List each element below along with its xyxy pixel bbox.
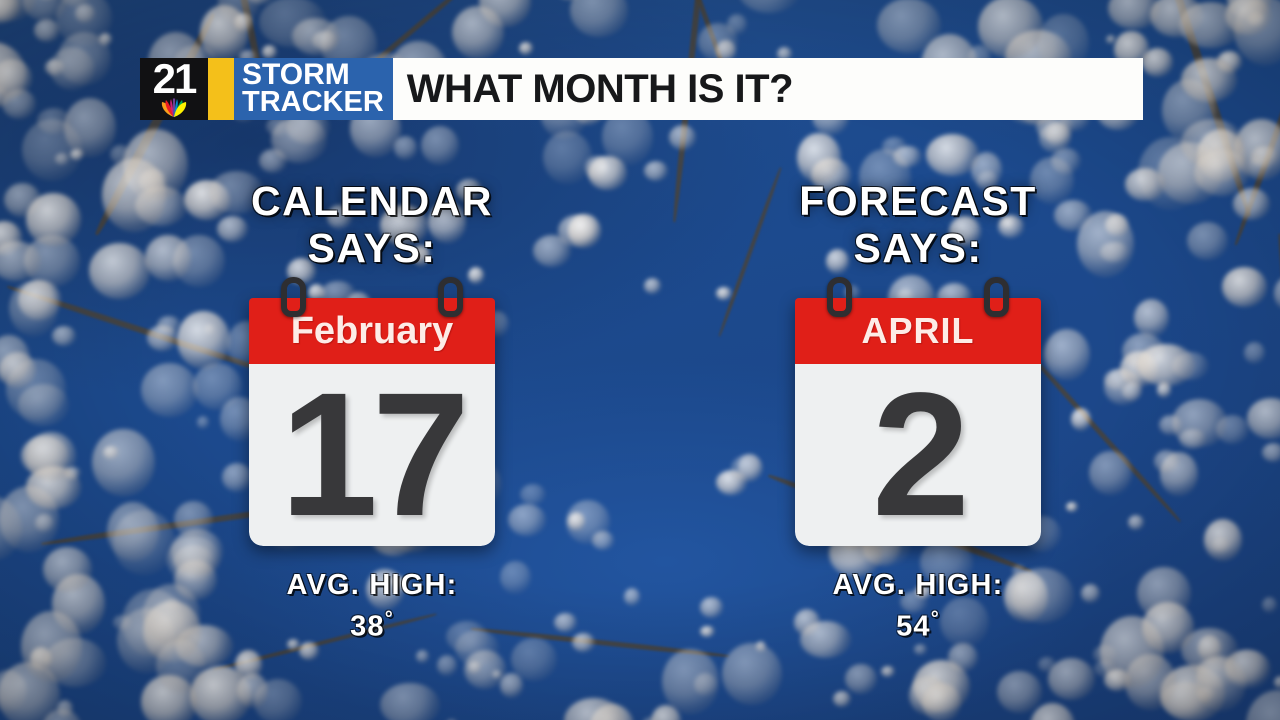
panel-heading-line2: SAYS: — [738, 225, 1098, 272]
avg-high-block: AVG. HIGH: 38° — [192, 568, 552, 644]
page-title: WHAT MONTH IS IT? — [407, 67, 793, 112]
gold-divider — [208, 58, 234, 120]
calendar-ring-right-icon — [984, 277, 1009, 317]
avg-high-reading: 38° — [192, 602, 552, 644]
avg-high-label: AVG. HIGH: — [192, 568, 552, 602]
avg-high-block: AVG. HIGH: 54° — [738, 568, 1098, 644]
avg-high-value: 54 — [896, 611, 931, 643]
stormtracker-brand[interactable]: STORM TRACKER — [234, 58, 393, 120]
panel-heading: CALENDAR SAYS: — [192, 178, 552, 272]
panel-forecast-says: FORECAST SAYS: APRIL 2 AVG. HIGH: 54° — [738, 178, 1098, 644]
calendar-ring-left-icon — [827, 277, 852, 317]
brand-line-tracker: TRACKER — [242, 89, 384, 117]
degree-symbol: ° — [931, 608, 940, 630]
nbc-peacock-icon — [151, 98, 197, 118]
calendar-graphic: February 17 — [249, 298, 495, 546]
calendar-day: 2 — [872, 375, 964, 535]
station-header-bar: 21 STORM TRACKER WHAT MONTH IS IT? — [140, 58, 1143, 120]
panel-heading-line1: CALENDAR — [192, 178, 552, 225]
calendar-body: 2 — [795, 364, 1041, 546]
channel-number: 21 — [153, 59, 196, 99]
avg-high-label: AVG. HIGH: — [738, 568, 1098, 602]
panel-heading-line1: FORECAST — [738, 178, 1098, 225]
avg-high-value: 38 — [350, 611, 385, 643]
calendar-ring-right-icon — [438, 277, 463, 317]
station-logo[interactable]: 21 — [140, 58, 208, 120]
brand-line-storm: STORM — [242, 61, 350, 90]
calendar-ring-left-icon — [281, 277, 306, 317]
calendar-card: February 17 — [249, 298, 495, 546]
panel-heading: FORECAST SAYS: — [738, 178, 1098, 272]
calendar-body: 17 — [249, 364, 495, 546]
calendar-card: APRIL 2 — [795, 298, 1041, 546]
avg-high-reading: 54° — [738, 602, 1098, 644]
degree-symbol: ° — [385, 608, 394, 630]
panel-heading-line2: SAYS: — [192, 225, 552, 272]
panel-calendar-says: CALENDAR SAYS: February 17 AVG. HIGH: 38… — [192, 178, 552, 644]
calendar-day: 17 — [280, 375, 464, 535]
calendar-graphic: APRIL 2 — [795, 298, 1041, 546]
headline-bar: WHAT MONTH IS IT? — [393, 58, 1143, 120]
